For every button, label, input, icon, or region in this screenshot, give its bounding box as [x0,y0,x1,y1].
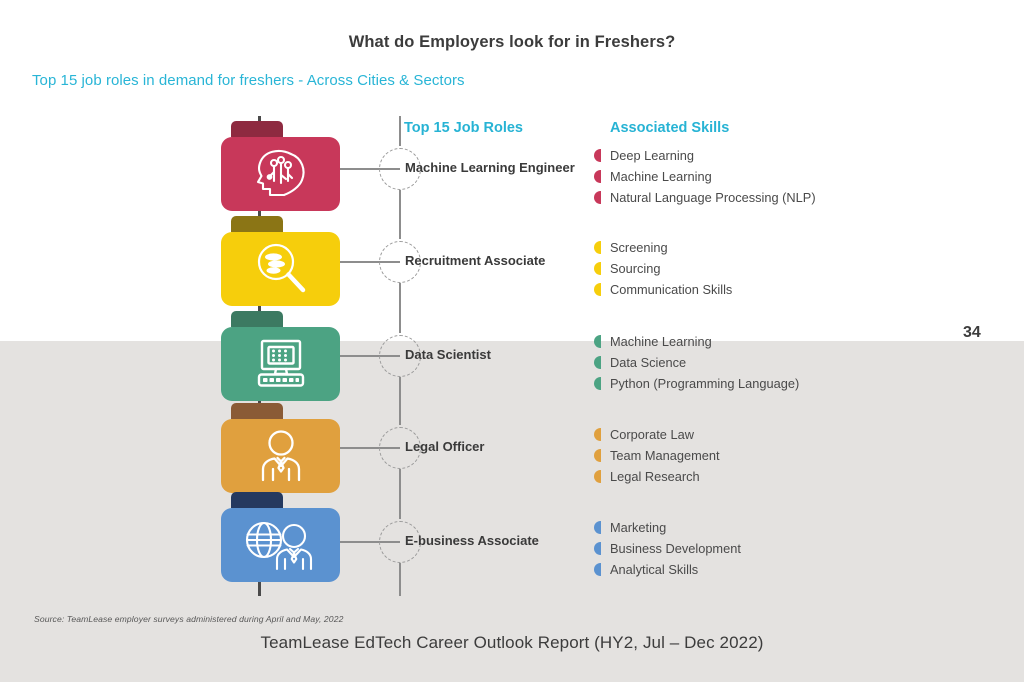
role-icon-card-1[interactable] [221,232,340,306]
skill-item[interactable]: Corporate Law [594,427,694,442]
background-gray [0,341,1024,682]
skill-item[interactable]: Natural Language Processing (NLP) [594,190,816,205]
column-line [399,563,401,596]
card-tab [231,311,283,327]
skill-item[interactable]: Deep Learning [594,148,694,163]
role-icon-card-3[interactable] [221,419,340,493]
skill-item[interactable]: Marketing [594,520,666,535]
source-note: Source: TeamLease employer surveys admin… [34,614,343,624]
skill-bullet-icon [594,335,601,348]
role-icon-card-4[interactable] [221,508,340,582]
skill-item[interactable]: Team Management [594,448,720,463]
card-tab [231,121,283,137]
skill-label: Analytical Skills [610,562,698,577]
role-label[interactable]: Legal Officer [405,439,484,454]
skill-bullet-icon [594,470,601,483]
skill-item[interactable]: Analytical Skills [594,562,698,577]
skill-label: Python (Programming Language) [610,376,799,391]
role-label[interactable]: E-business Associate [405,533,539,548]
page-title: What do Employers look for in Freshers? [0,33,1024,52]
skill-item[interactable]: Sourcing [594,261,661,276]
skill-label: Business Development [610,541,741,556]
column-heading-roles: Top 15 Job Roles [404,120,523,136]
skill-bullet-icon [594,241,601,254]
card-tab [231,216,283,232]
page-number: 34 [963,324,981,342]
column-line [399,377,401,425]
skill-label: Screening [610,240,668,255]
slide-canvas: What do Employers look for in Freshers? … [0,0,1024,682]
column-line [399,469,401,519]
computer-monitor-icon [251,339,311,389]
skill-bullet-icon [594,563,601,576]
column-line [399,190,401,239]
skill-bullet-icon [594,149,601,162]
globe-person-icon [243,519,319,571]
skill-bullet-icon [594,542,601,555]
column-line [399,116,401,146]
skill-bullet-icon [594,191,601,204]
skill-item[interactable]: Legal Research [594,469,700,484]
skill-item[interactable]: Business Development [594,541,741,556]
page-subtitle: Top 15 job roles in demand for freshers … [32,72,465,89]
skill-item[interactable]: Machine Learning [594,334,712,349]
person-suit-icon [256,430,306,482]
magnifier-people-icon [252,241,310,297]
skill-item[interactable]: Communication Skills [594,282,732,297]
skill-label: Sourcing [610,261,661,276]
skill-label: Marketing [610,520,666,535]
role-icon-card-2[interactable] [221,327,340,401]
skill-label: Machine Learning [610,169,712,184]
skill-label: Legal Research [610,469,700,484]
role-icon-card-0[interactable] [221,137,340,211]
skill-item[interactable]: Screening [594,240,668,255]
skill-label: Deep Learning [610,148,694,163]
role-label[interactable]: Machine Learning Engineer [405,160,575,175]
column-heading-skills: Associated Skills [610,120,729,136]
skill-label: Data Science [610,355,686,370]
skill-label: Team Management [610,448,720,463]
role-label[interactable]: Data Scientist [405,347,491,362]
skill-item[interactable]: Python (Programming Language) [594,376,799,391]
column-line [399,283,401,333]
skill-label: Natural Language Processing (NLP) [610,190,816,205]
skill-label: Corporate Law [610,427,694,442]
skill-bullet-icon [594,283,601,296]
card-tab [231,492,283,508]
role-label[interactable]: Recruitment Associate [405,253,545,268]
skill-bullet-icon [594,428,601,441]
head-circuit-icon [250,148,312,200]
skill-item[interactable]: Data Science [594,355,686,370]
skill-bullet-icon [594,521,601,534]
skill-label: Machine Learning [610,334,712,349]
skill-label: Communication Skills [610,282,732,297]
skill-bullet-icon [594,262,601,275]
skill-bullet-icon [594,449,601,462]
skill-bullet-icon [594,170,601,183]
report-footer: TeamLease EdTech Career Outlook Report (… [0,633,1024,653]
skill-item[interactable]: Machine Learning [594,169,712,184]
skill-bullet-icon [594,356,601,369]
card-tab [231,403,283,419]
skill-bullet-icon [594,377,601,390]
